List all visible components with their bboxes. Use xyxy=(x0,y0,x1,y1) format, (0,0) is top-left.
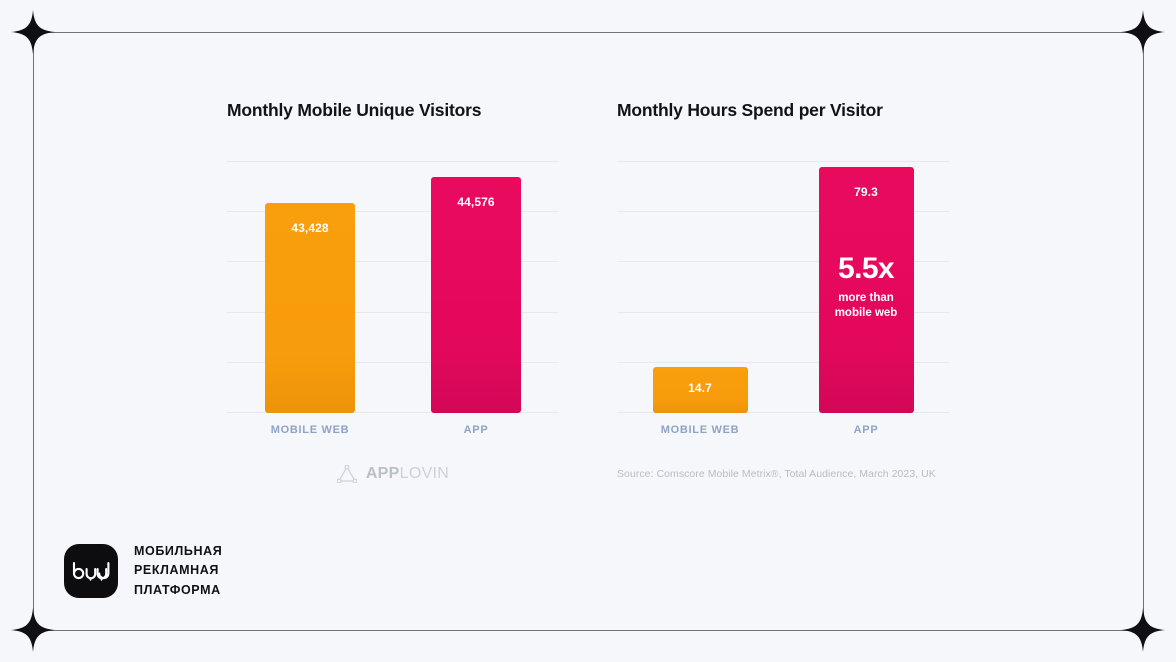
brand-tagline: МОБИЛЬНАЯ РЕКЛАМНАЯ ПЛАТФОРМА xyxy=(134,542,222,600)
applovin-logo: APPLOVIN xyxy=(337,465,449,483)
chart-panel-unique-visitors: Monthly Mobile Unique Visitors 43,428 xyxy=(227,100,559,486)
brand-block: МОБИЛЬНАЯ РЕКЛАМНАЯ ПЛАТФОРМА xyxy=(64,542,222,600)
bar-slot-app-right: 79.3 5.5x more than mobile web xyxy=(783,161,949,413)
bar-value-label: 43,428 xyxy=(291,221,328,235)
bar-value-label: 14.7 xyxy=(688,381,712,395)
bar-value-label: 44,576 xyxy=(457,195,494,209)
applovin-wordmark: APPLOVIN xyxy=(366,465,449,483)
applovin-word-bold: APP xyxy=(366,465,400,482)
bar-value-label: 79.3 xyxy=(854,185,878,199)
frame-line-bottom xyxy=(33,630,1143,631)
frame-line-left xyxy=(33,32,34,630)
bar-callout-multiplier: 5.5x more than mobile web xyxy=(819,253,914,322)
source-note: Source: Comscore Mobile Metrix®, Total A… xyxy=(617,468,936,480)
bar-app-left[interactable]: 44,576 xyxy=(431,177,521,413)
frame-line-right xyxy=(1143,32,1144,630)
frame-line-top xyxy=(33,32,1143,33)
callout-headline: 5.5x xyxy=(819,253,914,285)
bar-slot-mobile-web-right: 14.7 xyxy=(617,161,783,413)
applovin-word-light: LOVIN xyxy=(400,465,450,482)
callout-subline: more than mobile web xyxy=(819,291,914,322)
bar-slot-mobile-web-left: 43,428 xyxy=(227,161,393,413)
axis-label-mobile-web-right: MOBILE WEB xyxy=(617,424,783,436)
axis-labels-right: MOBILE WEB APP xyxy=(617,424,949,436)
bar-app-right[interactable]: 79.3 5.5x more than mobile web xyxy=(819,167,914,413)
plot-area-left: 43,428 44,576 xyxy=(227,161,559,413)
chart-title-right: Monthly Hours Spend per Visitor xyxy=(617,100,949,121)
chart-title-left: Monthly Mobile Unique Visitors xyxy=(227,100,559,121)
charts-container: Monthly Mobile Unique Visitors 43,428 xyxy=(227,100,927,486)
panel-footer-right: Source: Comscore Mobile Metrix®, Total A… xyxy=(617,462,949,486)
chart-panel-hours-spend: Monthly Hours Spend per Visitor 14.7 xyxy=(617,100,949,486)
axis-label-mobile-web-left: MOBILE WEB xyxy=(227,424,393,436)
byyd-logo-icon xyxy=(64,544,118,598)
bars-right: 14.7 79.3 5.5x more than mobile web xyxy=(617,161,949,413)
axis-label-app-left: APP xyxy=(393,424,559,436)
applovin-triangle-icon xyxy=(337,465,357,483)
panel-footer-left: APPLOVIN xyxy=(227,462,559,486)
bars-left: 43,428 44,576 xyxy=(227,161,559,413)
bar-slot-app-left: 44,576 xyxy=(393,161,559,413)
axis-label-app-right: APP xyxy=(783,424,949,436)
plot-area-right: 14.7 79.3 5.5x more than mobile web xyxy=(617,161,949,413)
axis-labels-left: MOBILE WEB APP xyxy=(227,424,559,436)
bar-mobile-web-left[interactable]: 43,428 xyxy=(265,203,355,413)
bar-mobile-web-right[interactable]: 14.7 xyxy=(653,367,748,413)
